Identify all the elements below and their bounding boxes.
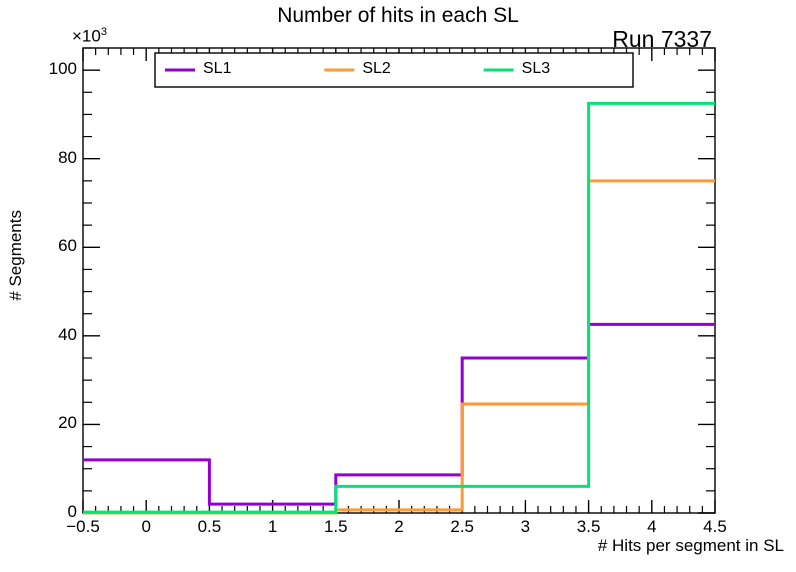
legend-label-sl3: SL3 <box>522 60 550 78</box>
series-line-sl1 <box>83 324 715 504</box>
legend-label-sl1: SL1 <box>203 60 231 78</box>
axis-frame <box>83 48 715 513</box>
series-line-sl3 <box>83 103 715 512</box>
series-layer <box>83 103 715 513</box>
plot-area <box>0 0 796 572</box>
root-canvas: Number of hits in each SL Run 7337 ×103 … <box>0 0 796 572</box>
plot-frame-rect <box>83 48 715 513</box>
legend-label-sl2: SL2 <box>362 60 390 78</box>
series-line-sl2 <box>83 181 715 513</box>
axis-ticks <box>83 48 715 513</box>
